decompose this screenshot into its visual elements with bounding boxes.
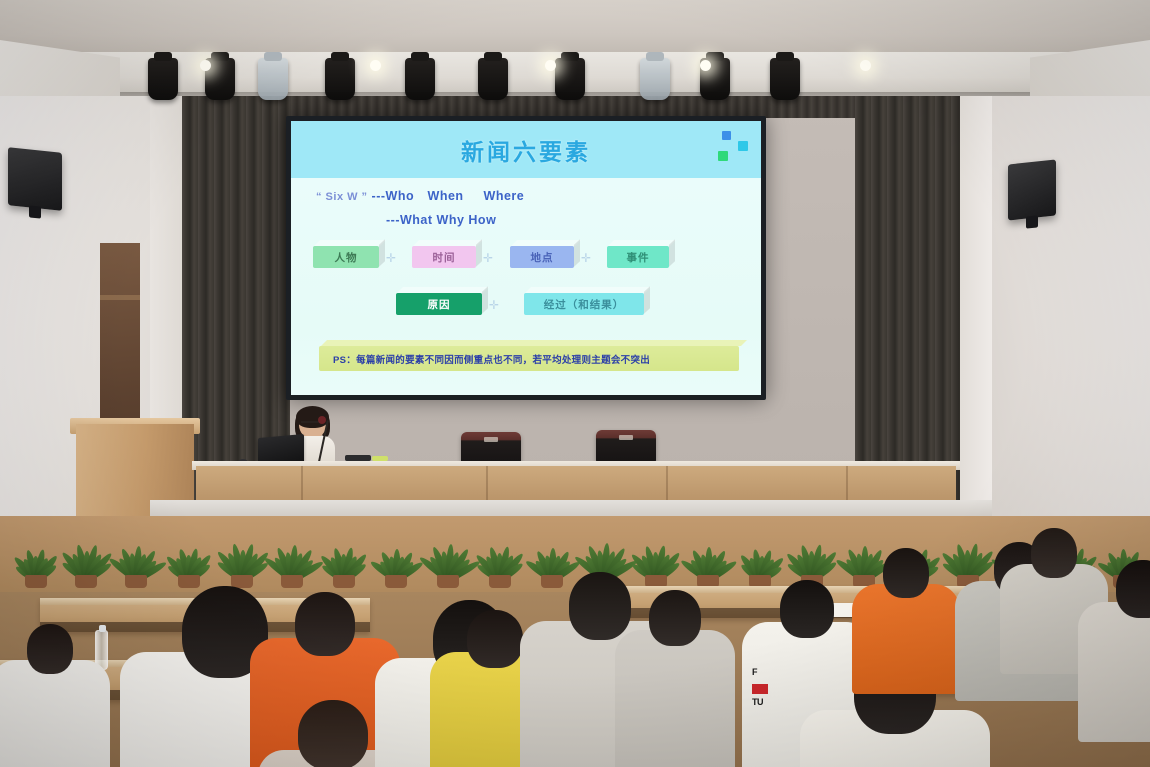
six-w-when: When (428, 189, 480, 203)
element-box-label: 地点 (531, 250, 554, 265)
six-w-why: Why (437, 213, 465, 227)
potted-plant (372, 530, 420, 580)
person-torso (1078, 602, 1150, 742)
attendee-right-edge (1078, 560, 1150, 758)
stage-chair-right (596, 430, 656, 462)
niche-shelf (100, 295, 140, 300)
spotlight-8-icon (640, 58, 670, 100)
wall-speaker-right-icon (1008, 159, 1056, 220)
element-box-label: 时间 (433, 250, 456, 265)
person-head (1116, 560, 1150, 618)
element-box-1: 经过（和结果） (524, 293, 644, 315)
plant-pot (25, 575, 47, 588)
tee-red-block (752, 684, 768, 694)
square-green-icon (718, 151, 728, 161)
element-box-0: 人物 (313, 246, 379, 268)
spotlight-1-icon (148, 58, 178, 100)
potted-plant (424, 530, 472, 580)
microphone-head-icon (318, 416, 326, 424)
six-w-how: How (468, 213, 496, 227)
person-head (27, 624, 73, 674)
person-torso (0, 660, 110, 767)
square-blue-icon (722, 131, 731, 140)
downlight-2-icon (370, 60, 381, 71)
slide-note-prefix: PS： (333, 352, 356, 366)
connector-plus-icon: ✛ (489, 298, 499, 312)
potted-plant (112, 530, 160, 580)
plant-pot (75, 575, 97, 588)
stage-curtain-right (855, 96, 960, 516)
stage-chair-left (461, 432, 521, 464)
attendee-orange-top-back (852, 548, 960, 708)
six-w-row-1: “ Six W ” ---Who When Where (316, 189, 536, 203)
slide-title: 新闻六要素 (461, 133, 591, 167)
person-torso (615, 630, 735, 767)
spotlight-6-icon (478, 58, 508, 100)
tee-letter: F (752, 668, 757, 677)
person-head (883, 548, 929, 598)
downlight-4-icon (700, 60, 711, 71)
six-w-who: ---Who (372, 189, 424, 203)
connector-plus-icon: ✛ (483, 251, 493, 265)
tee-letter: TU (752, 698, 763, 707)
downlight-5-icon (860, 60, 871, 71)
potted-plant (268, 530, 316, 580)
six-w-what: ---What (386, 213, 433, 227)
plant-pot (437, 575, 459, 588)
slide-header: 新闻六要素 (291, 121, 761, 178)
potted-plant (165, 530, 213, 580)
slide-note-text: 每篇新闻的要素不同因而侧重点也不同，若平均处理则主题会不突出 (356, 352, 650, 366)
person-torso (852, 584, 960, 694)
connector-plus-icon: ✛ (581, 251, 591, 265)
potted-plant (476, 530, 524, 580)
lecture-hall-scene: 新闻六要素 “ Six W ” ---Who When Where ---Wha… (0, 0, 1150, 767)
element-box-label: 人物 (335, 250, 358, 265)
potted-plant (736, 530, 784, 580)
person-head (649, 590, 701, 646)
spotlight-3-icon (258, 58, 288, 100)
downlight-3-icon (545, 60, 556, 71)
plant-pot (489, 575, 511, 588)
plant-pot (333, 575, 355, 588)
spotlight-4-icon (325, 58, 355, 100)
potted-plant (218, 530, 266, 580)
downlight-1-icon (200, 60, 211, 71)
attendee-far-left (0, 624, 110, 767)
person-head (298, 700, 368, 767)
plant-pot (385, 575, 407, 588)
projection-screen: 新闻六要素 “ Six W ” ---Who When Where ---Wha… (286, 116, 766, 400)
potted-plant (320, 530, 368, 580)
spotlight-7-icon (555, 58, 585, 100)
potted-plant (62, 530, 110, 580)
wall-speaker-left-icon (8, 147, 62, 211)
person-head (295, 592, 355, 656)
six-w-row-2: ---What Why How (386, 213, 496, 227)
six-w-label: “ Six W ” (316, 191, 368, 203)
person-head (1031, 528, 1077, 578)
potted-plant (12, 530, 60, 580)
person-head (467, 610, 523, 668)
element-box-label: 经过（和结果） (544, 297, 625, 312)
connector-plus-icon: ✛ (386, 251, 396, 265)
element-box-label: 事件 (627, 250, 650, 265)
spotlight-10-icon (770, 58, 800, 100)
element-box-1: 时间 (412, 246, 476, 268)
element-box-2: 地点 (510, 246, 574, 268)
potted-plant (788, 530, 836, 580)
person-head (780, 580, 834, 638)
slide-canvas: 新闻六要素 “ Six W ” ---Who When Where ---Wha… (291, 121, 761, 395)
six-w-where: Where (484, 189, 536, 203)
element-box-3: 事件 (607, 246, 669, 268)
slide-note-box: PS： 每篇新闻的要素不同因而侧重点也不同，若平均处理则主题会不突出 (319, 346, 739, 371)
attendee-gray-left (615, 590, 735, 767)
potted-plant (684, 530, 732, 580)
square-cyan-icon (738, 141, 748, 151)
ceiling-slab (0, 0, 1150, 58)
spotlight-5-icon (405, 58, 435, 100)
slide-body: “ Six W ” ---Who When Where ---What Why … (291, 178, 761, 390)
element-box-0: 原因 (396, 293, 482, 315)
element-box-label: 原因 (428, 297, 451, 312)
